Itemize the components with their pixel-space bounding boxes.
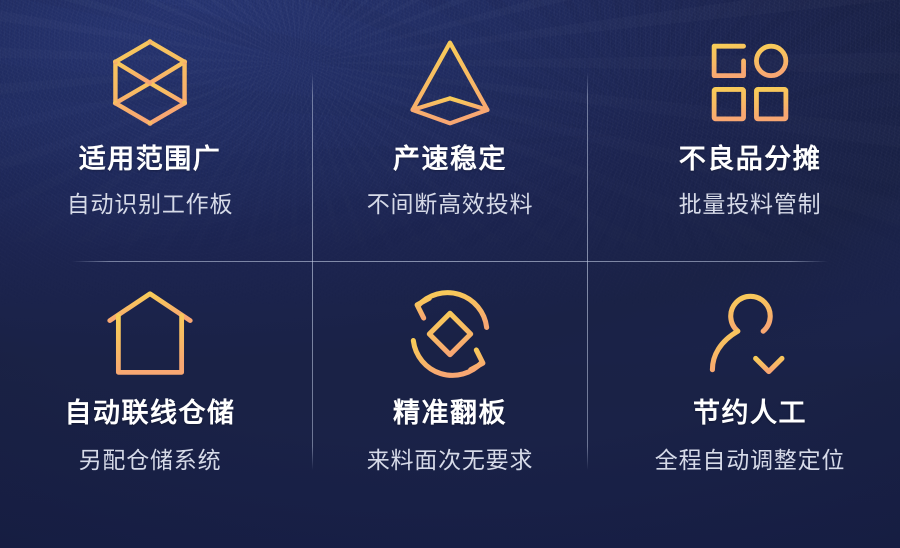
rotate-diamond-icon <box>395 284 505 384</box>
feature-subtitle: 自动识别工作板 <box>67 193 234 216</box>
feature-grid-banner: 适用范围广 自动识别工作板 <box>0 0 900 548</box>
feature-title: 产速稳定 <box>393 146 507 173</box>
feature-title: 自动联线仓储 <box>65 400 236 427</box>
feature-subtitle: 另配仓储系统 <box>79 449 222 472</box>
person-down-arrow-icon <box>695 284 805 384</box>
feature-cell-6: 节约人工 全程自动调整定位 <box>600 262 900 548</box>
feature-title: 节约人工 <box>693 400 807 427</box>
warehouse-icon <box>95 284 205 384</box>
feature-title: 精准翻板 <box>393 400 507 427</box>
feature-subtitle: 不间断高效投料 <box>367 193 534 216</box>
feature-subtitle: 批量投料管制 <box>679 193 822 216</box>
feature-title: 不良品分摊 <box>679 146 822 173</box>
shapes-grid-icon <box>695 34 805 132</box>
feature-cell-1: 适用范围广 自动识别工作板 <box>0 0 300 262</box>
feature-title: 适用范围广 <box>79 146 222 173</box>
feature-grid: 适用范围广 自动识别工作板 <box>0 0 900 548</box>
feature-cell-3: 不良品分摊 批量投料管制 <box>600 0 900 262</box>
feature-cell-5: 精准翻板 来料面次无要求 <box>300 262 600 548</box>
feature-subtitle: 全程自动调整定位 <box>655 449 845 472</box>
feature-cell-4: 自动联线仓储 另配仓储系统 <box>0 262 300 548</box>
feature-subtitle: 来料面次无要求 <box>367 449 534 472</box>
hexagon-cube-wireframe-icon <box>95 34 205 132</box>
feature-cell-2: 产速稳定 不间断高效投料 <box>300 0 600 262</box>
pyramid-wireframe-icon <box>395 34 505 132</box>
